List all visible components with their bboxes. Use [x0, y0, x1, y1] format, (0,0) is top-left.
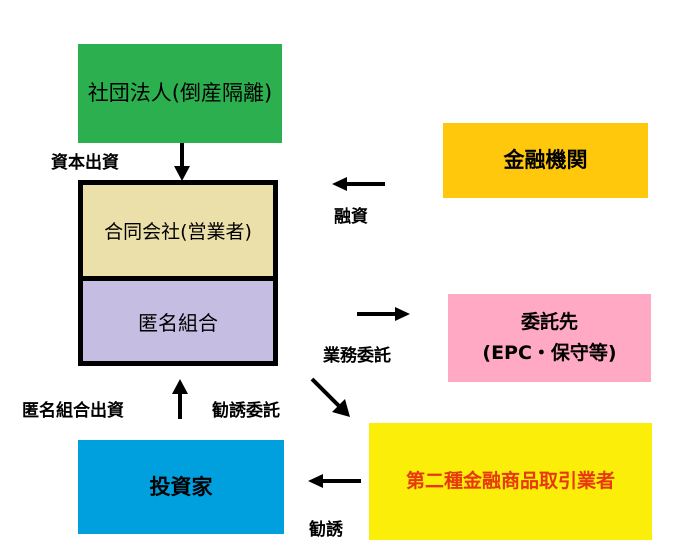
box-tokumei-kumiai: 匿名組合 — [83, 281, 273, 361]
label-tokumei-kumiai-shusshi: 匿名組合出資 — [22, 396, 124, 421]
label-gyoumu-itaku: 業務委託 — [323, 341, 391, 366]
box-ippan-shadan-houjin: 社団法人(倒産隔離) — [78, 44, 282, 143]
arrow-gyoumu-itaku — [355, 305, 415, 325]
arrow-kanyu — [306, 472, 366, 492]
diagram-canvas: 社団法人(倒産隔離) 資本出資 合同会社(営業者) 匿名組合 金融機関 融資 委… — [0, 0, 682, 554]
arrow-kanyu-itaku — [308, 375, 358, 421]
arrow-shihon-shusshi — [170, 143, 204, 183]
box-gk-tk-container: 合同会社(営業者) 匿名組合 — [78, 180, 278, 366]
box-toushika: 投資家 — [78, 440, 284, 534]
box-godo-kaisha-label: 合同会社(営業者) — [104, 217, 252, 244]
box-kinyu-kikan-label: 金融機関 — [504, 147, 588, 173]
label-shihon-shusshi: 資本出資 — [51, 148, 119, 173]
box-kinyu-kikan: 金融機関 — [443, 123, 648, 198]
box-itakusaki-label-line1: 委託先 — [521, 311, 578, 335]
box-tokumei-kumiai-label: 匿名組合 — [138, 307, 218, 336]
box-itakusaki-label-line2: (EPC・保守等) — [482, 342, 616, 366]
box-dainishu-kinyu-shohin-torihiki-gyosha: 第二種金融商品取引業者 — [369, 423, 652, 540]
arrow-yushi — [330, 175, 390, 195]
arrow-tokumei-kumiai-shusshi — [168, 375, 198, 421]
box-dainishu-label: 第二種金融商品取引業者 — [406, 470, 615, 494]
box-ippan-shadan-houjin-label: 社団法人(倒産隔離) — [88, 80, 272, 106]
box-itakusaki: 委託先 (EPC・保守等) — [448, 294, 651, 382]
label-kanyu-itaku: 勧誘委託 — [212, 396, 280, 421]
box-toushika-label: 投資家 — [150, 474, 213, 500]
label-kanyu: 勧誘 — [309, 515, 343, 540]
label-yushi: 融資 — [334, 202, 368, 227]
box-godo-kaisha: 合同会社(営業者) — [83, 185, 273, 276]
